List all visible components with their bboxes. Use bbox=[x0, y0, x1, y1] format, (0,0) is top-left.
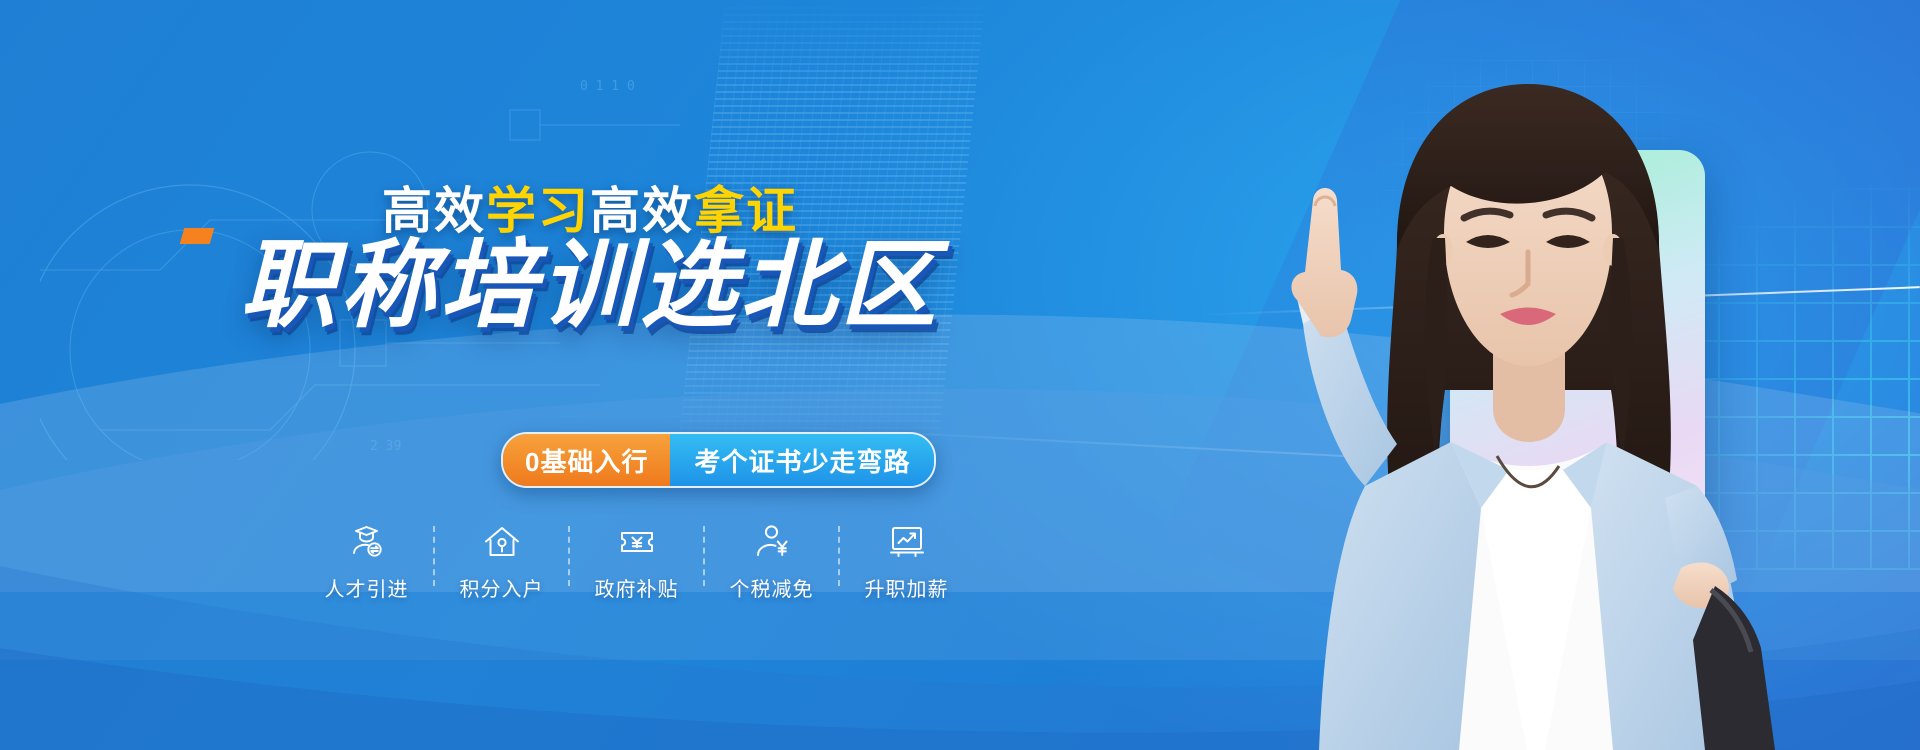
promo-banner: 2 39 0 1 1 0 高效学习高效拿证 职称培训选北区 0基础入行 bbox=[0, 0, 1920, 750]
feature-item[interactable]: 个税减免 bbox=[705, 522, 838, 602]
headline: 职称培训选北区 bbox=[0, 238, 1180, 334]
kicker-part-1: 高效 bbox=[382, 183, 486, 239]
house-pin-icon bbox=[482, 522, 522, 562]
feature-label: 人才引进 bbox=[325, 573, 409, 602]
pill-right-label: 考个证书少走弯路 bbox=[670, 434, 934, 486]
feature-item[interactable]: 积分入户 bbox=[435, 522, 568, 602]
chart-board-icon bbox=[887, 522, 927, 562]
copy-block: 高效学习高效拿证 职称培训选北区 0基础入行 考个证书少走弯路 bbox=[0, 0, 1180, 750]
feature-label: 个税减免 bbox=[730, 573, 814, 602]
feature-list: 人才引进 积分入户 bbox=[300, 522, 973, 602]
feature-label: 积分入户 bbox=[460, 573, 544, 602]
orange-accent-mark-icon bbox=[180, 228, 215, 244]
person-yuan-icon bbox=[752, 522, 792, 562]
kicker-part-3: 高效 bbox=[590, 183, 694, 239]
kicker-part-2: 学习 bbox=[486, 183, 590, 239]
feature-label: 升职加薪 bbox=[865, 573, 949, 602]
tagline-pill[interactable]: 0基础入行 考个证书少走弯路 bbox=[501, 432, 936, 488]
pill-left-label: 0基础入行 bbox=[503, 434, 670, 486]
feature-item[interactable]: 政府补贴 bbox=[570, 522, 703, 602]
feature-item[interactable]: 人才引进 bbox=[300, 522, 433, 602]
kicker-line: 高效学习高效拿证 bbox=[0, 186, 1180, 236]
coupon-yuan-icon bbox=[617, 522, 657, 562]
feature-item[interactable]: 升职加薪 bbox=[840, 522, 973, 602]
headline-text: 职称培训选北区 bbox=[240, 232, 940, 339]
photo-composition bbox=[1245, 0, 1920, 750]
avatar bbox=[1245, 38, 1920, 750]
feature-label: 政府补贴 bbox=[595, 573, 679, 602]
kicker-part-4: 拿证 bbox=[694, 183, 798, 239]
graduate-person-icon bbox=[347, 522, 387, 562]
